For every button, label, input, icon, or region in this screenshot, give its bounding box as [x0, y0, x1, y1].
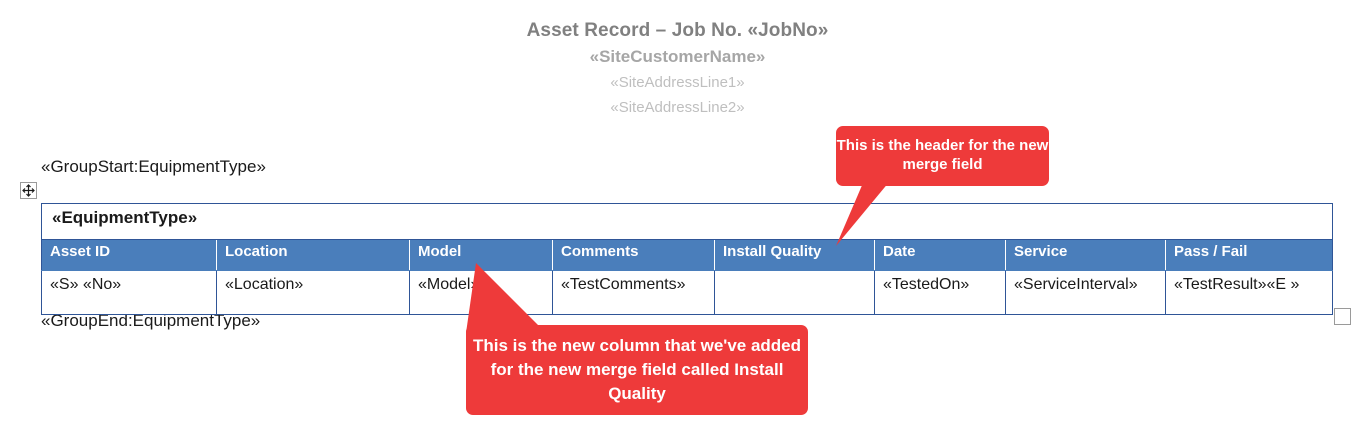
- table-resize-handle[interactable]: [1334, 308, 1351, 325]
- cell-service[interactable]: «ServiceInterval»: [1006, 271, 1166, 315]
- page-title: Asset Record – Job No. «JobNo»: [0, 18, 1355, 44]
- table-caption-row: «EquipmentType»: [42, 204, 1333, 240]
- header-callout: This is the header for the new merge fie…: [836, 126, 1049, 186]
- column-header-service: Service: [1006, 240, 1166, 271]
- equipment-type-caption: «EquipmentType»: [42, 204, 1333, 240]
- table-header-row: Asset ID Location Model Comments Install…: [42, 240, 1333, 271]
- asset-table: «EquipmentType» Asset ID Location Model …: [41, 203, 1333, 315]
- header-callout-tail: [836, 176, 896, 246]
- customer-name: «SiteCustomerName»: [0, 44, 1355, 70]
- table-row: «S» «No» «Location» «Model» «TestComment…: [42, 271, 1333, 315]
- site-address-line-1: «SiteAddressLine1»: [0, 70, 1355, 95]
- site-address-line-2: «SiteAddressLine2»: [0, 95, 1355, 120]
- document-header: Asset Record – Job No. «JobNo» «SiteCust…: [0, 18, 1355, 120]
- column-header-pass-fail: Pass / Fail: [1166, 240, 1333, 271]
- column-header-asset-id: Asset ID: [42, 240, 217, 271]
- cell-date[interactable]: «TestedOn»: [875, 271, 1006, 315]
- column-callout-tail: [466, 263, 556, 333]
- column-header-comments: Comments: [553, 240, 715, 271]
- table-move-handle[interactable]: [20, 182, 37, 199]
- group-start-label: «GroupStart:EquipmentType»: [41, 157, 266, 177]
- cell-install-quality[interactable]: [715, 271, 875, 315]
- cell-comments[interactable]: «TestComments»: [553, 271, 715, 315]
- column-header-location: Location: [217, 240, 410, 271]
- cell-asset-id[interactable]: «S» «No»: [42, 271, 217, 315]
- column-callout: This is the new column that we've added …: [466, 325, 808, 415]
- cell-location[interactable]: «Location»: [217, 271, 410, 315]
- cell-pass-fail[interactable]: «TestResult»«E »: [1166, 271, 1333, 315]
